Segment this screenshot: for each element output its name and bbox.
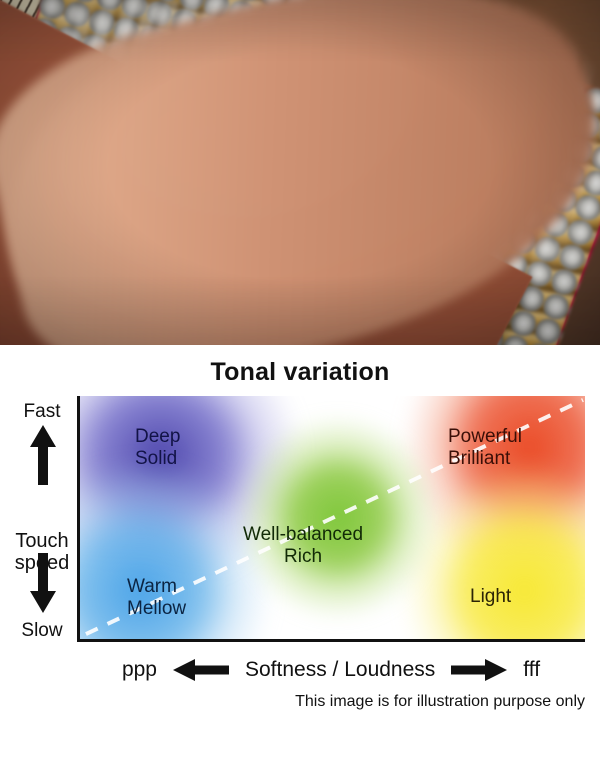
x-axis-title: Softness / Loudness bbox=[245, 658, 435, 682]
plot-area: Deep Solid Powerful Brilliant Well-balan… bbox=[77, 396, 585, 642]
tonal-variation-figure: Tonal variation Fast Touch speed Slow De… bbox=[0, 0, 600, 783]
arrow-right-icon bbox=[451, 659, 507, 681]
arrow-up-icon bbox=[30, 425, 56, 485]
piano-action-photo bbox=[0, 0, 600, 345]
x-axis-row: ppp Softness / Loudness fff bbox=[77, 653, 585, 687]
y-axis-top-label: Fast bbox=[12, 401, 72, 423]
region-label-powerful-brilliant: Powerful Brilliant bbox=[448, 426, 522, 470]
region-label-light: Light bbox=[470, 586, 511, 608]
tonal-variation-chart: Tonal variation Fast Touch speed Slow De… bbox=[0, 345, 600, 783]
x-axis-right-label: fff bbox=[523, 658, 540, 682]
disclaimer-text: This image is for illustration purpose o… bbox=[0, 693, 585, 711]
region-label-well-balanced-rich: Well-balanced Rich bbox=[243, 524, 363, 568]
y-axis-bottom-label: Slow bbox=[12, 620, 72, 642]
region-label-warm-mellow: Warm Mellow bbox=[127, 576, 186, 620]
region-blob-well-balanced bbox=[237, 415, 439, 619]
region-label-deep-solid: Deep Solid bbox=[135, 426, 180, 470]
x-axis-left-label: ppp bbox=[122, 658, 157, 682]
photo-soft-focus bbox=[0, 0, 600, 345]
arrow-down-icon bbox=[30, 553, 56, 613]
arrow-left-icon bbox=[173, 659, 229, 681]
chart-title: Tonal variation bbox=[0, 358, 600, 387]
